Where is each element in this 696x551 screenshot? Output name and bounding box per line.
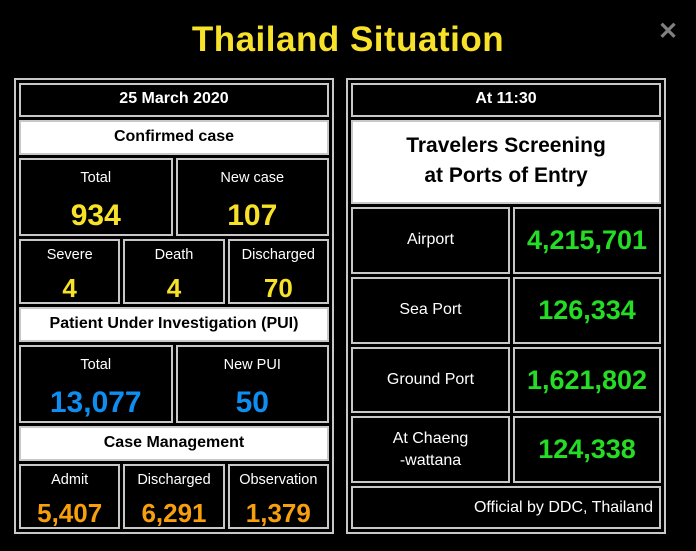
stat-value: 934 [71,201,121,231]
port-row-sea-port: Sea Port 126,334 [351,277,661,344]
stat-cell-pui-total: Total 13,077 [19,345,173,423]
stat-value: 70 [264,275,293,301]
section-header-confirmed-case: Confirmed case [19,120,329,155]
section-header-case-management: Case Management [19,426,329,461]
port-label-line2: -wattana [400,450,461,472]
stat-label: Observation [239,471,317,490]
stat-label: New PUI [224,356,281,375]
stat-value: 5,407 [37,500,102,526]
stat-label: Discharged [137,471,210,490]
travelers-screening-line1: Travelers Screening [353,131,659,161]
port-value: 1,621,802 [527,367,647,394]
close-icon[interactable]: ✕ [654,18,682,46]
stat-value: 13,077 [50,388,142,418]
title-bar: Thailand Situation ✕ [0,0,696,78]
stat-label: Discharged [242,246,315,265]
port-value-cell: 4,215,701 [513,207,661,274]
port-value-cell: 124,338 [513,416,661,483]
port-row-airport: Airport 4,215,701 [351,207,661,274]
stat-label: Total [80,356,111,375]
port-label: Sea Port [399,299,461,321]
covid-statistics-panel: 25 March 2020 Confirmed case Total 934 N… [14,78,334,534]
port-row-chaeng-wattana: At Chaeng -wattana 124,338 [351,416,661,483]
travelers-screening-panel: At 11:30 Travelers Screening at Ports of… [346,78,666,534]
severity-row: Severe 4 Death 4 Discharged 70 [19,239,329,304]
port-label: At Chaeng [393,428,469,450]
port-name-cell: Ground Port [351,347,510,414]
report-date-header: 25 March 2020 [19,83,329,117]
port-value: 4,215,701 [527,227,647,254]
stat-label: Admit [51,471,88,490]
stat-cell-admit: Admit 5,407 [19,464,120,529]
port-label: Ground Port [387,369,474,391]
stat-value: 6,291 [141,500,206,526]
stat-cell-death: Death 4 [123,239,224,304]
port-name-cell: Airport [351,207,510,274]
port-name-cell: Sea Port [351,277,510,344]
port-row-ground-port: Ground Port 1,621,802 [351,347,661,414]
confirmed-case-row: Total 934 New case 107 [19,158,329,236]
port-value: 126,334 [538,297,636,324]
stat-label: Total [80,169,111,188]
stat-cell-confirmed-new: New case 107 [176,158,330,236]
report-time-header: At 11:30 [351,83,661,117]
section-header-pui: Patient Under Investigation (PUI) [19,307,329,342]
stat-value: 4 [167,275,181,301]
stat-label: Death [155,246,194,265]
source-attribution-text: Official by DDC, Thailand [474,499,653,517]
stat-cell-confirmed-total: Total 934 [19,158,173,236]
stat-value: 4 [62,275,76,301]
stat-value: 1,379 [246,500,311,526]
page-title: Thailand Situation [0,20,696,60]
stat-label: Severe [47,246,93,265]
port-name-cell: At Chaeng -wattana [351,416,510,483]
port-value-cell: 126,334 [513,277,661,344]
stat-cell-observation: Observation 1,379 [228,464,329,529]
port-value-cell: 1,621,802 [513,347,661,414]
stat-cell-cm-discharged: Discharged 6,291 [123,464,224,529]
stat-value: 107 [227,201,277,231]
case-management-row: Admit 5,407 Discharged 6,291 Observation… [19,464,329,529]
port-value: 124,338 [538,436,636,463]
stat-value: 50 [236,388,269,418]
travelers-screening-line2: at Ports of Entry [353,161,659,191]
port-label: Airport [407,229,454,251]
source-attribution: Official by DDC, Thailand [351,486,661,529]
section-header-travelers-screening: Travelers Screening at Ports of Entry [351,120,661,204]
stat-label: New case [220,169,284,188]
stat-cell-discharged: Discharged 70 [228,239,329,304]
stat-cell-pui-new: New PUI 50 [176,345,330,423]
pui-row: Total 13,077 New PUI 50 [19,345,329,423]
stat-cell-severe: Severe 4 [19,239,120,304]
